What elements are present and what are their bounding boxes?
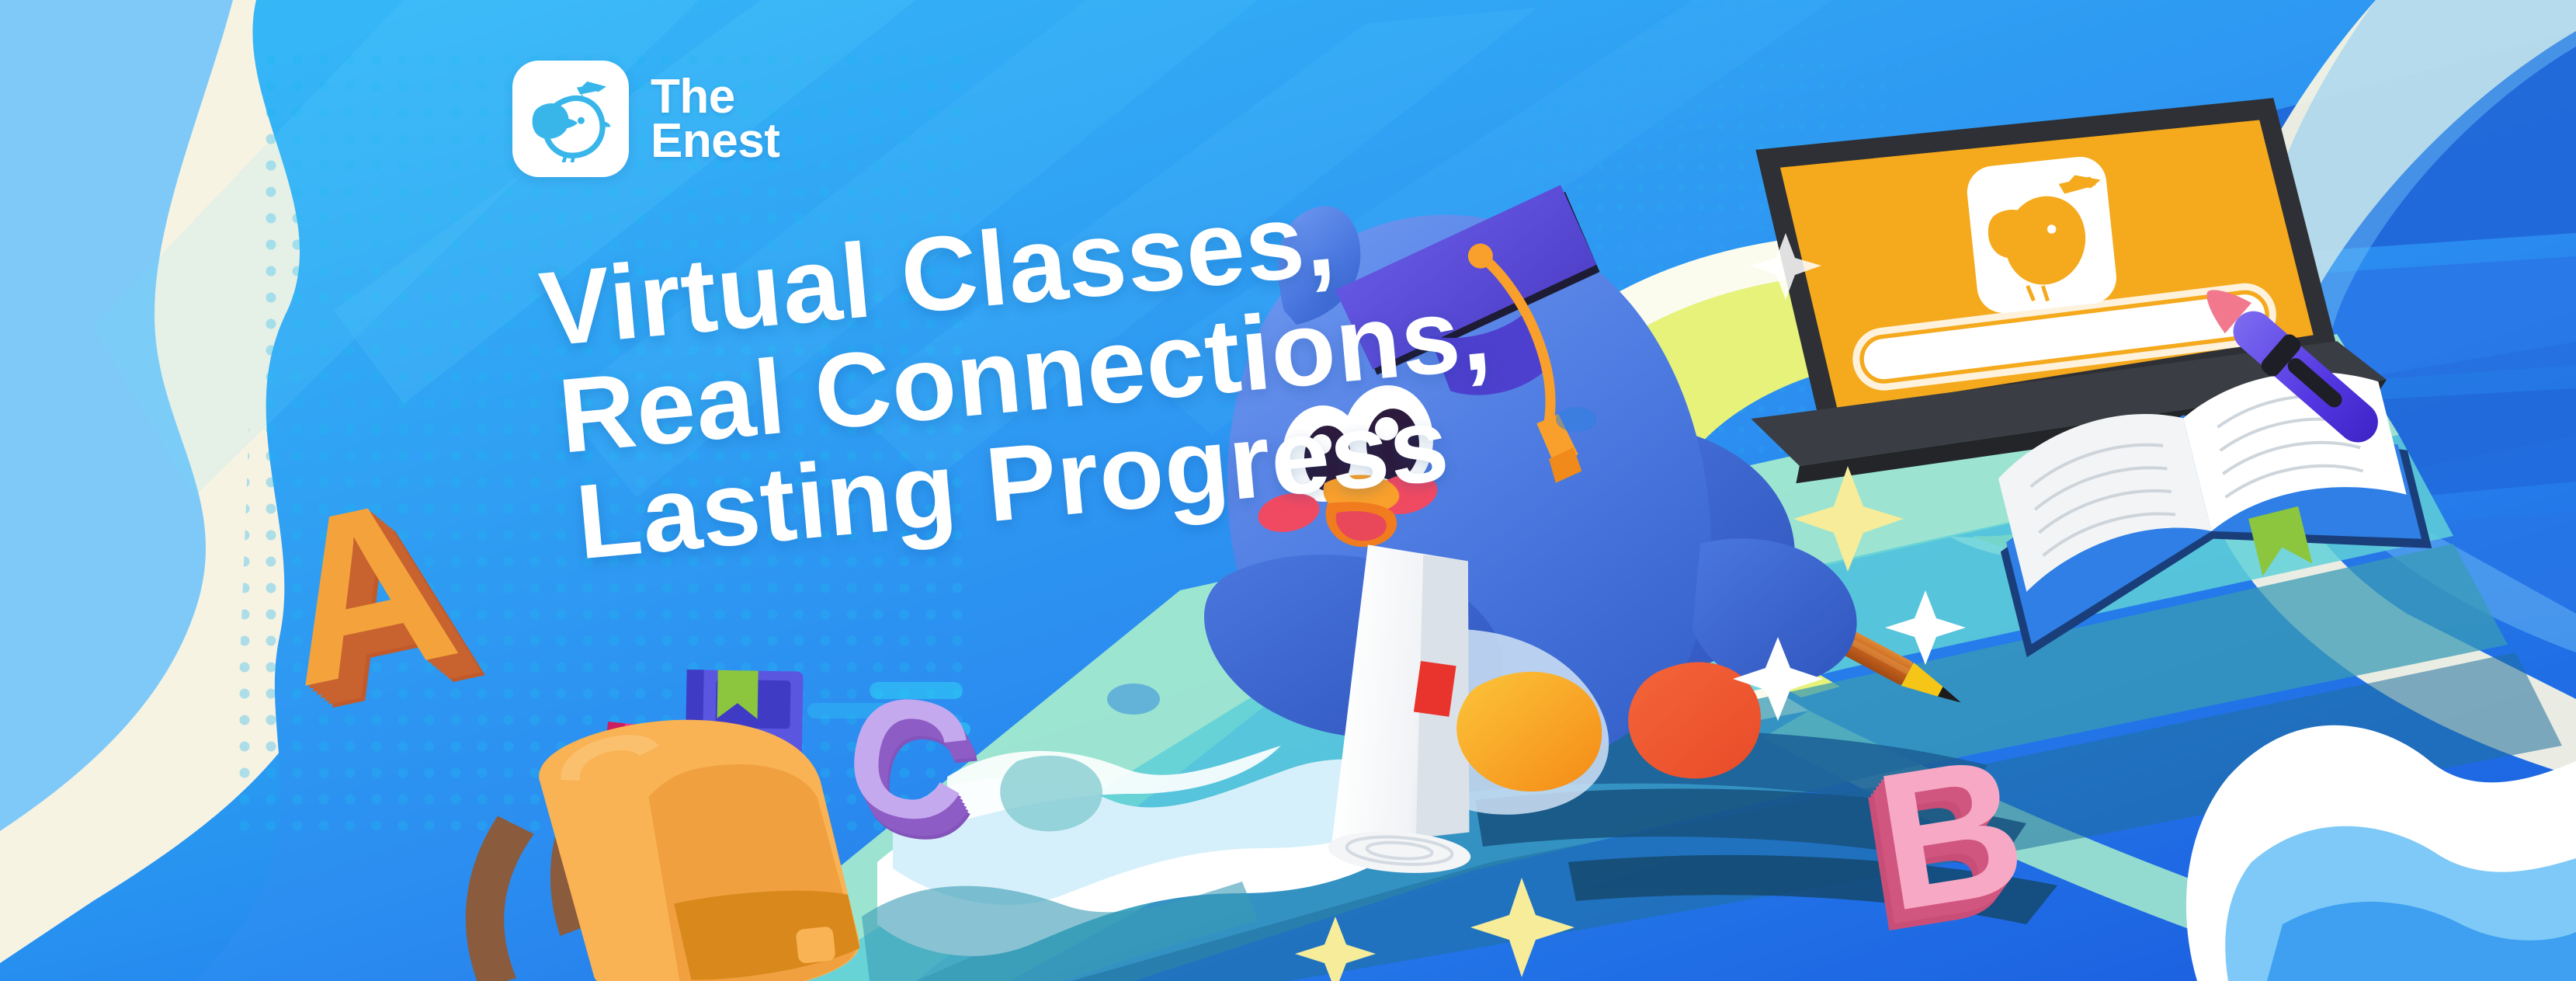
brand-logo[interactable]: The Enest bbox=[512, 61, 779, 177]
promotional-banner: The Enest Virtual Classes, Real Connecti… bbox=[0, 0, 2576, 981]
logo-word-line1: The bbox=[651, 75, 779, 119]
laptop-logo-icon bbox=[1964, 154, 2119, 316]
logo-word-line2: Enest bbox=[651, 119, 779, 163]
decorative-letter-c: C bbox=[835, 666, 981, 851]
logo-wordmark: The Enest bbox=[651, 75, 779, 163]
decorative-letter-b: B bbox=[1866, 726, 2036, 941]
bird-graduate-icon bbox=[527, 75, 614, 162]
logo-mark bbox=[512, 61, 629, 177]
